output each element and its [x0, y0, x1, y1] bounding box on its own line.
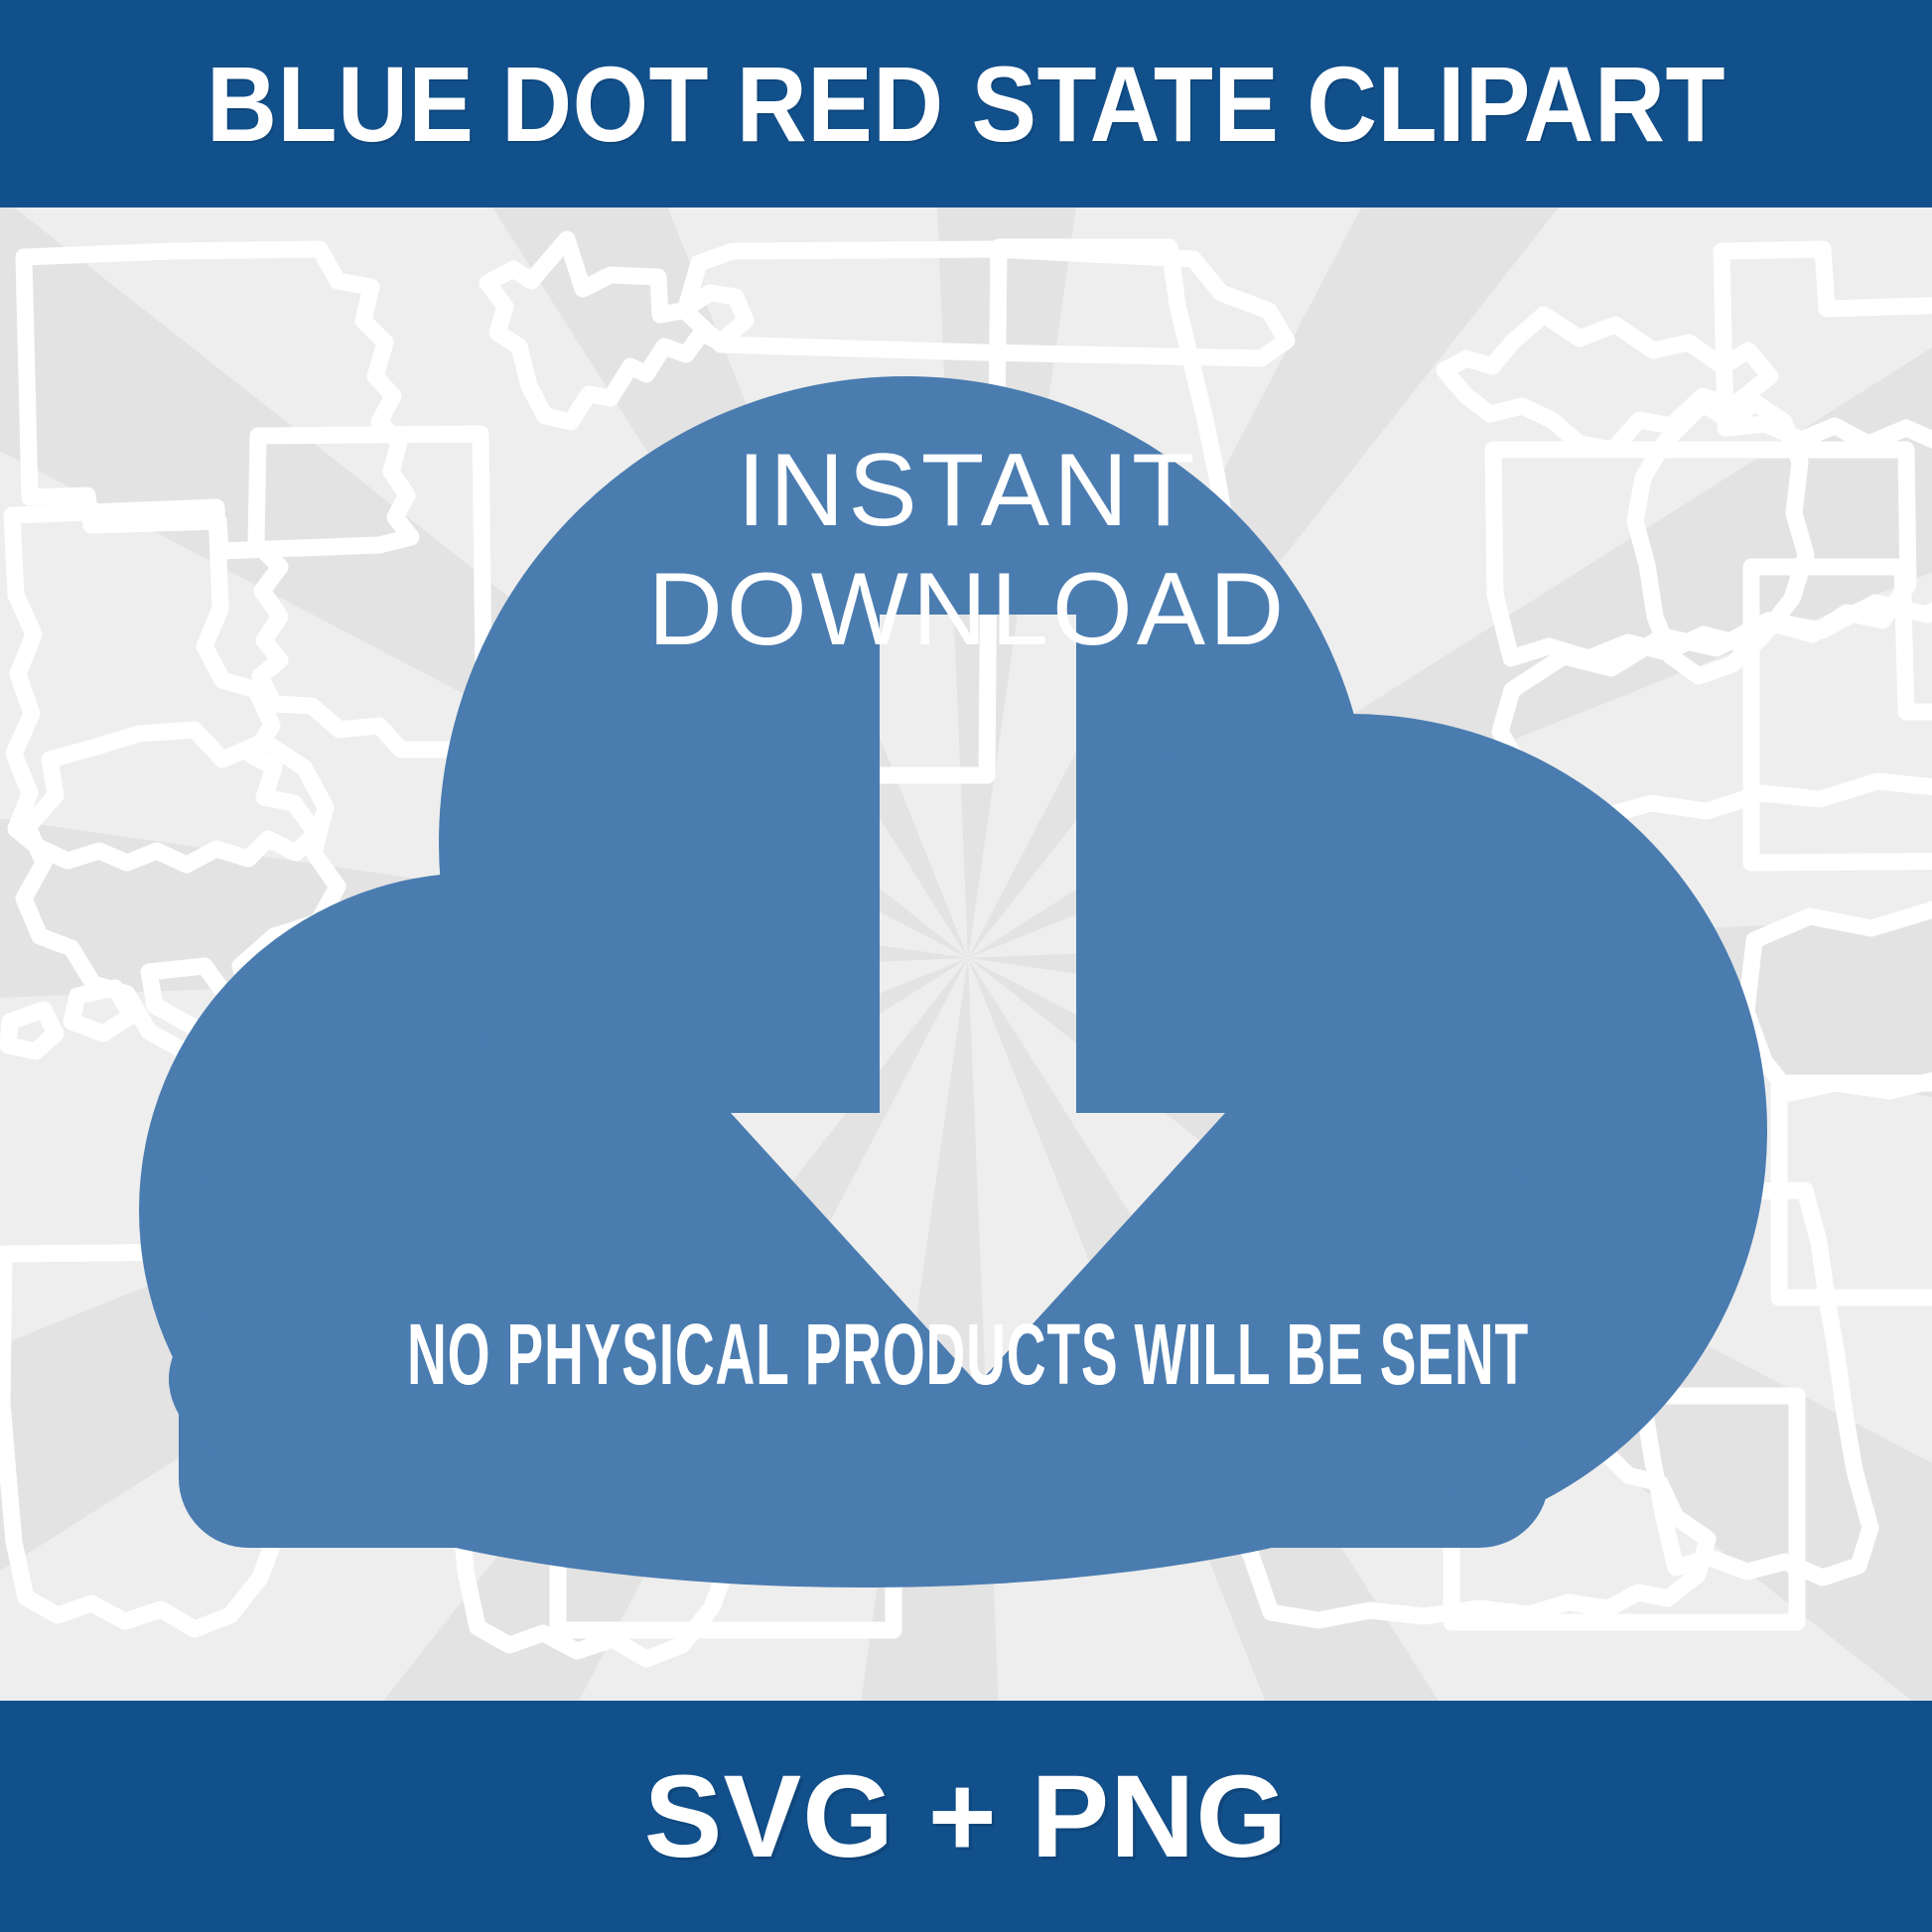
top-banner: BLUE DOT RED STATE CLIPART — [0, 0, 1932, 207]
file-format-label: SVG + PNG — [644, 1758, 1288, 1875]
download-label: DOWNLOAD — [648, 552, 1288, 667]
cloud-text-layer: INSTANT DOWNLOAD NO PHYSICAL PRODUCTS WI… — [0, 207, 1932, 1701]
artwork-area: INSTANT DOWNLOAD NO PHYSICAL PRODUCTS WI… — [0, 207, 1932, 1701]
instant-label: INSTANT — [737, 433, 1198, 548]
bottom-banner: SVG + PNG — [0, 1701, 1932, 1932]
no-physical-products-disclaimer: NO PHYSICAL PRODUCTS WILL BE SENT — [407, 1307, 1529, 1403]
product-mockup-canvas: BLUE DOT RED STATE CLIPART — [0, 0, 1932, 1932]
banner-title: BLUE DOT RED STATE CLIPART — [207, 51, 1725, 158]
